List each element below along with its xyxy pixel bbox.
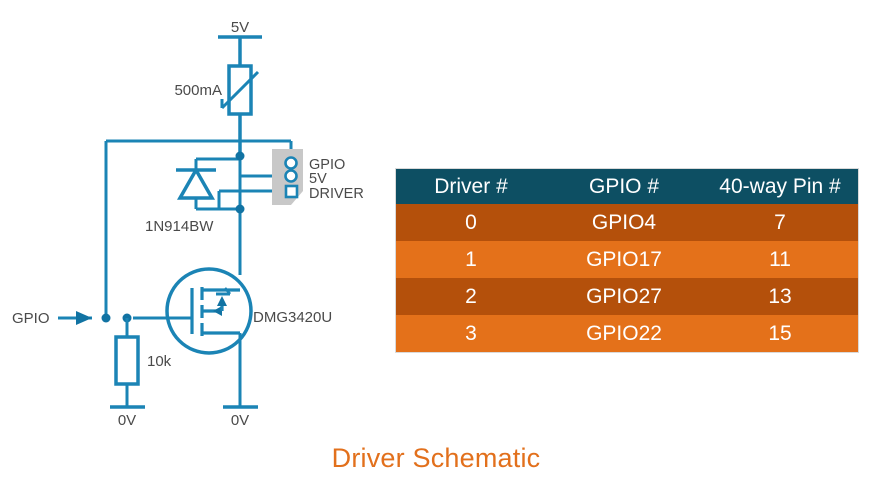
gpio-arrow-icon — [76, 311, 92, 325]
ground-label-left: 0V — [118, 412, 136, 429]
cell-pin: 15 — [702, 315, 858, 352]
gpio-pin-mapping-table: Driver # GPIO # 40-way Pin # 0 GPIO4 7 1… — [396, 169, 858, 352]
ground-symbol-right: 0V — [223, 407, 258, 429]
driver-schematic-diagram: 5V 500mA — [0, 0, 400, 440]
mosfet-dmg3420u: DMG3420U — [133, 269, 332, 353]
polyfuse-label: 500mA — [174, 82, 222, 99]
slide-canvas: 5V 500mA — [0, 0, 872, 487]
column-header-driver: Driver # — [396, 169, 546, 204]
junction-dot-gate-feedback — [102, 314, 111, 323]
cell-gpio: GPIO4 — [546, 204, 702, 241]
pulldown-resistor-10k: 10k — [116, 318, 172, 407]
table-header-row: Driver # GPIO # 40-way Pin # — [396, 169, 858, 204]
junction-dot-5v-node — [236, 152, 245, 161]
slide-caption: Driver Schematic — [0, 443, 872, 474]
cell-pin: 7 — [702, 204, 858, 241]
cell-pin: 11 — [702, 241, 858, 278]
cell-gpio: GPIO22 — [546, 315, 702, 352]
diode-label: 1N914BW — [145, 218, 214, 235]
flyback-diode-1n914bw: 1N914BW — [145, 159, 240, 235]
ground-symbol-left: 0V — [110, 407, 145, 429]
connector-pin-driver — [286, 186, 297, 197]
connector-pin-label-driver: DRIVER — [309, 186, 364, 202]
connector-pin-label-5v: 5V — [309, 171, 327, 187]
cell-pin: 13 — [702, 278, 858, 315]
gpio-input-label: GPIO — [12, 310, 50, 327]
cell-driver: 1 — [396, 241, 546, 278]
table-row: 2 GPIO27 13 — [396, 278, 858, 315]
cell-driver: 3 — [396, 315, 546, 352]
junction-dot-drain-node — [236, 205, 245, 214]
gpio-input-terminal: GPIO — [12, 310, 92, 327]
supply-rail-5v: 5V — [218, 19, 262, 68]
cell-gpio: GPIO27 — [546, 278, 702, 315]
connector-pin-gpio — [286, 158, 297, 169]
column-header-gpio: GPIO # — [546, 169, 702, 204]
table-row: 0 GPIO4 7 — [396, 204, 858, 241]
ground-label-right: 0V — [231, 412, 249, 429]
cell-driver: 0 — [396, 204, 546, 241]
column-header-pin: 40-way Pin # — [702, 169, 858, 204]
mosfet-label: DMG3420U — [253, 309, 332, 326]
cell-driver: 2 — [396, 278, 546, 315]
cell-gpio: GPIO17 — [546, 241, 702, 278]
supply-rail-label: 5V — [231, 19, 249, 36]
driver-connector-block: GPIO 5V DRIVER — [272, 149, 364, 205]
connector-pin-5v — [286, 171, 297, 182]
table-row: 3 GPIO22 15 — [396, 315, 858, 352]
table-row: 1 GPIO17 11 — [396, 241, 858, 278]
resistor-label: 10k — [147, 353, 172, 370]
